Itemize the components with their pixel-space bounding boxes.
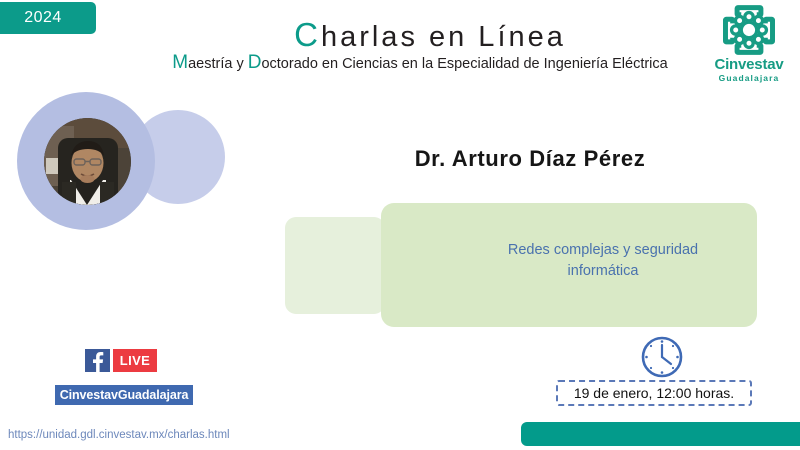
- topic-title: Redes complejas y seguridad informática: [468, 240, 738, 282]
- cinvestav-logo: Cinvestav Guadalajara: [706, 4, 792, 82]
- date-time-box: 19 de enero, 12:00 horas.: [556, 380, 752, 406]
- page-subtitle: Maestría y Doctorado en Ciencias en la E…: [110, 52, 730, 74]
- facebook-live-badge[interactable]: LIVE: [85, 349, 157, 372]
- subtitle-part-1: aestría y: [188, 56, 248, 72]
- facebook-page-button[interactable]: CinvestavGuadalajara: [55, 385, 193, 405]
- live-label[interactable]: LIVE: [113, 349, 157, 372]
- cinvestav-wordmark: Cinvestav: [714, 57, 783, 72]
- subtitle-part-2: octorado en Ciencias en la Especialidad …: [261, 56, 667, 72]
- cinvestav-emblem-icon: [721, 4, 777, 56]
- page-title-rest: harlas en Línea: [321, 21, 566, 53]
- speaker-name: Dr. Arturo Díaz Pérez: [290, 146, 770, 172]
- bottom-accent-bar: [521, 422, 800, 446]
- subtitle-initial-m: M: [172, 52, 188, 73]
- charla-poster: 2024 Charlas en Línea Maestría y Doctora…: [0, 0, 800, 450]
- topic-decorative-block-left: [285, 217, 385, 314]
- topic-line-2: informática: [568, 263, 639, 279]
- year-badge-label: 2024: [24, 9, 62, 27]
- site-url-link[interactable]: https://unidad.gdl.cinvestav.mx/charlas.…: [8, 429, 230, 441]
- facebook-page-label: CinvestavGuadalajara: [60, 388, 189, 402]
- page-title-initial: C: [294, 16, 321, 53]
- facebook-f-icon[interactable]: [85, 349, 110, 372]
- year-badge: 2024: [0, 2, 96, 34]
- cinvestav-campus-label: Guadalajara: [719, 73, 780, 83]
- subtitle-initial-d: D: [248, 52, 262, 73]
- date-time-label: 19 de enero, 12:00 horas.: [574, 385, 734, 401]
- speaker-avatar: [44, 118, 131, 205]
- clock-icon: [638, 333, 686, 381]
- page-title: Charlas en Línea: [240, 16, 620, 54]
- topic-line-1: Redes complejas y seguridad: [508, 242, 698, 258]
